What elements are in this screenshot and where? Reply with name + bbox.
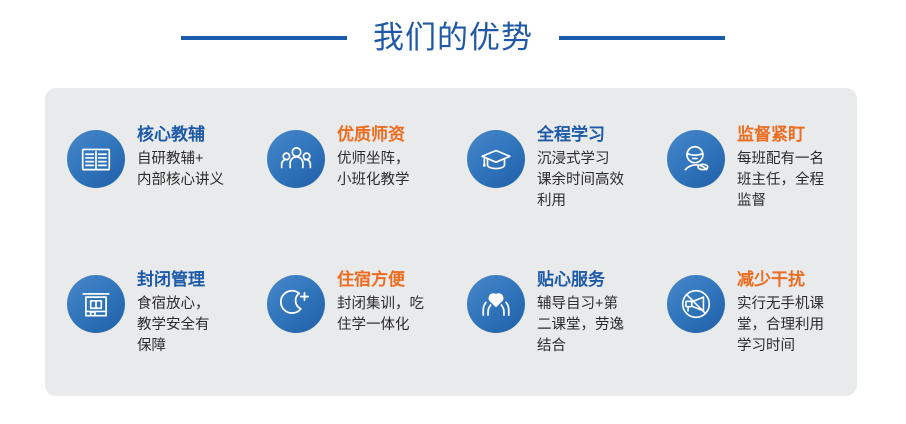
feature-desc: 食宿放心， 教学安全有 保障 <box>137 294 210 357</box>
heading-rule-right <box>559 36 725 40</box>
feature-title: 减少干扰 <box>737 269 824 291</box>
advantages-section: 我们的优势 核心教辅 自研教辅+ 内部核心讲义 <box>0 0 906 424</box>
feature-card[interactable]: 全程学习 沉浸式学习 课余时间高效 利用 <box>467 118 667 263</box>
feature-text: 封闭管理 食宿放心， 教学安全有 保障 <box>137 263 210 357</box>
heading-rule-left <box>181 36 347 40</box>
feature-desc: 优师坐阵， 小班化教学 <box>337 149 410 191</box>
page-title: 我们的优势 <box>373 20 533 56</box>
feature-text: 全程学习 沉浸式学习 课余时间高效 利用 <box>537 118 624 212</box>
open-book-icon <box>67 130 125 188</box>
feature-text: 监督紧盯 每班配有一名 班主任，全程 监督 <box>737 118 824 212</box>
feature-desc: 封闭集训，吃 住学一体化 <box>337 294 424 336</box>
feature-title: 优质师资 <box>337 124 410 146</box>
features-panel: 核心教辅 自研教辅+ 内部核心讲义 优质师资 <box>45 88 857 396</box>
feature-card[interactable]: 核心教辅 自研教辅+ 内部核心讲义 <box>67 118 267 263</box>
feature-card[interactable]: 优质师资 优师坐阵， 小班化教学 <box>267 118 467 263</box>
feature-title: 住宿方便 <box>337 269 424 291</box>
feature-desc: 实行无手机课 堂，合理利用 学习时间 <box>737 294 824 357</box>
graduation-cap-icon <box>467 130 525 188</box>
feature-title: 监督紧盯 <box>737 124 824 146</box>
feature-card[interactable]: 减少干扰 实行无手机课 堂，合理利用 学习时间 <box>667 263 859 408</box>
feature-title: 封闭管理 <box>137 269 210 291</box>
feature-card[interactable]: 封闭管理 食宿放心， 教学安全有 保障 <box>67 263 267 408</box>
features-grid: 核心教辅 自研教辅+ 内部核心讲义 优质师资 <box>67 118 839 408</box>
group-people-icon <box>267 130 325 188</box>
feature-desc: 沉浸式学习 课余时间高效 利用 <box>537 149 624 212</box>
feature-text: 住宿方便 封闭集训，吃 住学一体化 <box>337 263 424 336</box>
feature-desc: 自研教辅+ 内部核心讲义 <box>137 149 224 191</box>
feature-card[interactable]: 贴心服务 辅导自习+第 二课堂，劳逸 结合 <box>467 263 667 408</box>
building-icon <box>67 275 125 333</box>
no-megaphone-icon <box>667 275 725 333</box>
feature-desc: 辅导自习+第 二课堂，劳逸 结合 <box>537 294 624 357</box>
section-heading: 我们的优势 <box>0 14 906 62</box>
feature-title: 贴心服务 <box>537 269 624 291</box>
feature-card[interactable]: 住宿方便 封闭集训，吃 住学一体化 <box>267 263 467 408</box>
feature-text: 贴心服务 辅导自习+第 二课堂，劳逸 结合 <box>537 263 624 357</box>
feature-desc: 每班配有一名 班主任，全程 监督 <box>737 149 824 212</box>
person-face-icon <box>667 130 725 188</box>
heart-in-hands-icon <box>467 275 525 333</box>
moon-plus-icon <box>267 275 325 333</box>
feature-text: 核心教辅 自研教辅+ 内部核心讲义 <box>137 118 224 191</box>
feature-text: 优质师资 优师坐阵， 小班化教学 <box>337 118 410 191</box>
feature-card[interactable]: 监督紧盯 每班配有一名 班主任，全程 监督 <box>667 118 859 263</box>
feature-title: 核心教辅 <box>137 124 224 146</box>
feature-text: 减少干扰 实行无手机课 堂，合理利用 学习时间 <box>737 263 824 357</box>
feature-title: 全程学习 <box>537 124 624 146</box>
